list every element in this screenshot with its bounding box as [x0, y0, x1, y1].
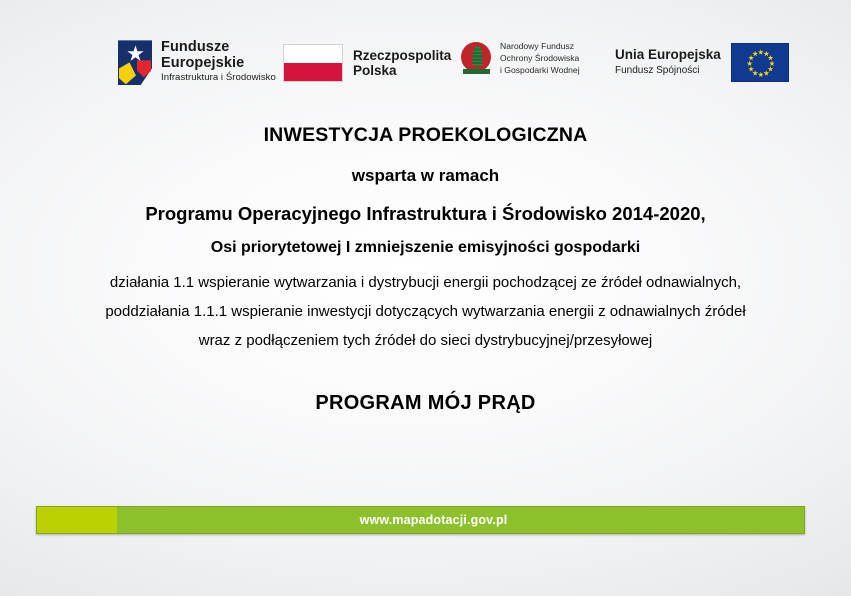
- eu-flag-icon: [731, 43, 789, 82]
- logo-rzeczpospolita-polska: Rzeczpospolita Polska: [283, 44, 451, 82]
- logo-nfosigw: Narodowy Fundusz Ochrony Środowiska i Go…: [461, 41, 580, 77]
- eu-star-icon: [763, 51, 769, 57]
- fe-line-3: Infrastruktura i Środowisko: [161, 71, 276, 85]
- measure-description: działania 1.1 wspieranie wytwarzania i d…: [0, 268, 851, 355]
- eu-star-icon: [747, 61, 753, 67]
- nfosigw-tree-mark-icon: [461, 42, 493, 76]
- footer-url-text[interactable]: www.mapadotacji.gov.pl: [360, 513, 508, 527]
- footer-url-bar: www.mapadotacji.gov.pl: [36, 506, 805, 534]
- eu-star-icon: [752, 51, 758, 57]
- priority-axis: Osi priorytetowej I zmniejszenie emisyjn…: [0, 239, 851, 257]
- rp-line-2: Polska: [353, 63, 451, 78]
- logo-fundusze-europejskie-text: Fundusze Europejskie Infrastruktura i Śr…: [161, 40, 276, 86]
- operational-program: Programu Operacyjnego Infrastruktura i Ś…: [0, 203, 851, 225]
- fe-line-2: Europejskie: [161, 56, 276, 72]
- logo-unia-europejska-text: Unia Europejska Fundusz Spójności: [615, 47, 721, 78]
- eu-star-icon: [767, 66, 773, 72]
- logo-nfosigw-text: Narodowy Fundusz Ochrony Środowiska i Go…: [500, 41, 580, 77]
- measure-line-3: wraz z podłączeniem tych źródeł do sieci…: [0, 326, 851, 355]
- measure-line-1: działania 1.1 wspieranie wytwarzania i d…: [0, 268, 851, 297]
- nf-line-3: i Gospodarki Wodnej: [500, 65, 580, 77]
- rp-line-1: Rzeczpospolita: [353, 48, 451, 63]
- nf-line-2: Ochrony Środowiska: [500, 53, 580, 65]
- eu-star-icon: [748, 55, 754, 61]
- logo-fundusze-europejskie: Fundusze Europejskie Infrastruktura i Śr…: [118, 40, 276, 86]
- fe-line-1: Fundusze: [161, 40, 276, 56]
- logo-unia-europejska: Unia Europejska Fundusz Spójności: [615, 43, 789, 82]
- eu-star-icon: [769, 61, 775, 67]
- nf-base-bar: [463, 69, 490, 74]
- polish-flag-icon: [283, 44, 343, 82]
- eu-star-icon: [758, 49, 764, 55]
- fundusze-europejskie-mark-icon: [118, 40, 152, 85]
- subtitle: wsparta w ramach: [0, 166, 851, 186]
- logo-strip: Fundusze Europejskie Infrastruktura i Śr…: [0, 34, 851, 96]
- footer-bar-accent-block: [37, 507, 117, 533]
- program-name: PROGRAM MÓJ PRĄD: [0, 392, 851, 415]
- eu-star-icon: [767, 55, 773, 61]
- poster-canvas: Fundusze Europejskie Infrastruktura i Śr…: [0, 0, 851, 596]
- eu-star-icon: [752, 70, 758, 76]
- logo-rzeczpospolita-polska-text: Rzeczpospolita Polska: [353, 48, 451, 79]
- measure-line-2: poddziałania 1.1.1 wspieranie inwestycji…: [0, 297, 851, 326]
- ue-line-2: Fundusz Spójności: [615, 63, 721, 78]
- eu-star-icon: [758, 72, 764, 78]
- eu-star-icon: [763, 70, 769, 76]
- eu-star-icon: [748, 66, 754, 72]
- footer-bar-main-block: www.mapadotacji.gov.pl: [117, 507, 804, 533]
- nf-line-1: Narodowy Fundusz: [500, 41, 580, 53]
- ue-line-1: Unia Europejska: [615, 47, 721, 63]
- page-title: INWESTYCJA PROEKOLOGICZNA: [0, 124, 851, 147]
